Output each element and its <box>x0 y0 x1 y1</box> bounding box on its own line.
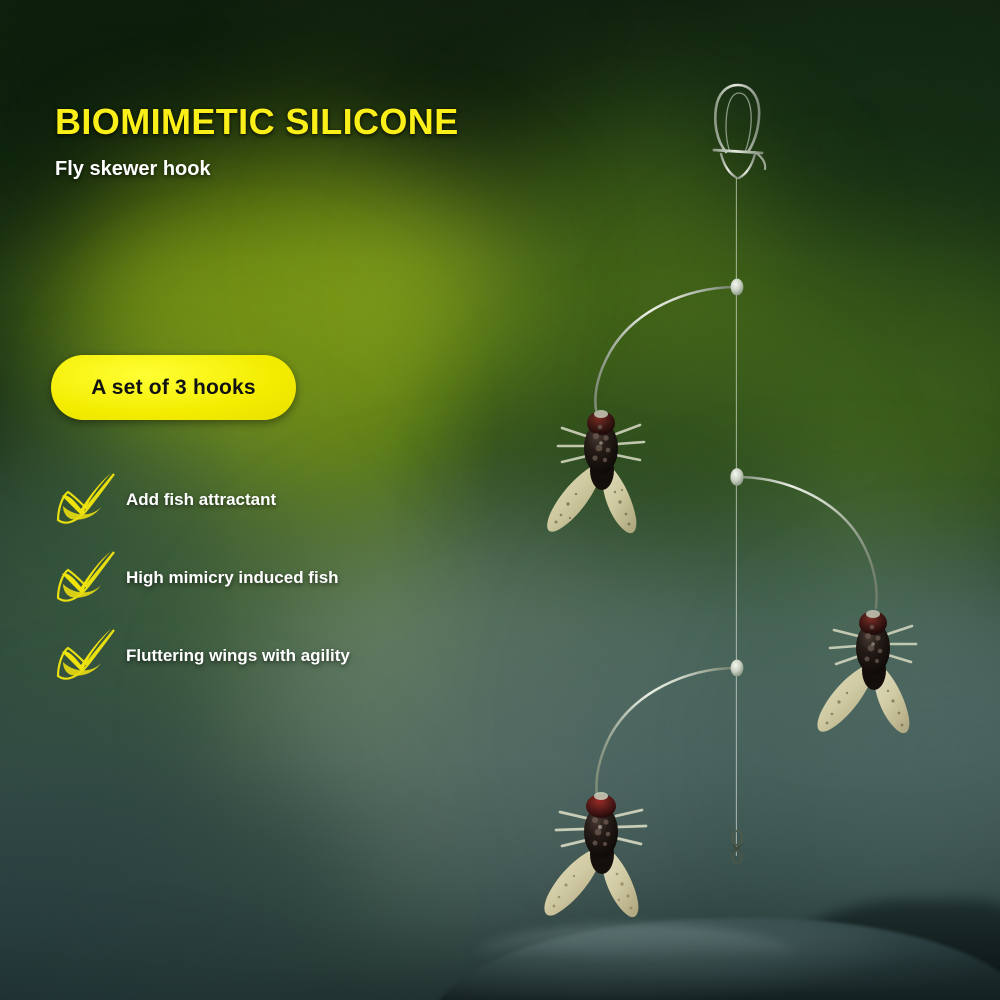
list-item: Add fish attractant <box>52 470 472 548</box>
list-item: High mimicry induced fish <box>52 548 472 626</box>
check-icon <box>52 548 122 606</box>
hook-eye-wrap <box>594 792 608 800</box>
hook-eye-wrap <box>866 610 880 618</box>
list-item-label: Add fish attractant <box>126 490 276 510</box>
list-item-label: Fluttering wings with agility <box>126 646 350 666</box>
fly-lure <box>520 398 690 548</box>
status-badge: A set of 3 hooks <box>51 355 296 420</box>
list-item-label: High mimicry induced fish <box>126 568 339 588</box>
list-item: Fluttering wings with agility <box>52 626 472 704</box>
product-advertisement-stage: BIOMIMETIC SILICONE Fly skewer hook A se… <box>0 0 1000 1000</box>
fly-lure <box>520 782 690 932</box>
page-title: BIOMIMETIC SILICONE <box>55 101 459 143</box>
check-icon <box>52 470 122 528</box>
check-icon <box>52 626 122 684</box>
feature-list: Add fish attractant High mimicry induced… <box>52 470 472 704</box>
page-subtitle: Fly skewer hook <box>55 158 211 181</box>
status-badge-label: A set of 3 hooks <box>91 376 256 400</box>
hook-eye-wrap <box>594 410 608 418</box>
fly-lure <box>792 598 962 748</box>
